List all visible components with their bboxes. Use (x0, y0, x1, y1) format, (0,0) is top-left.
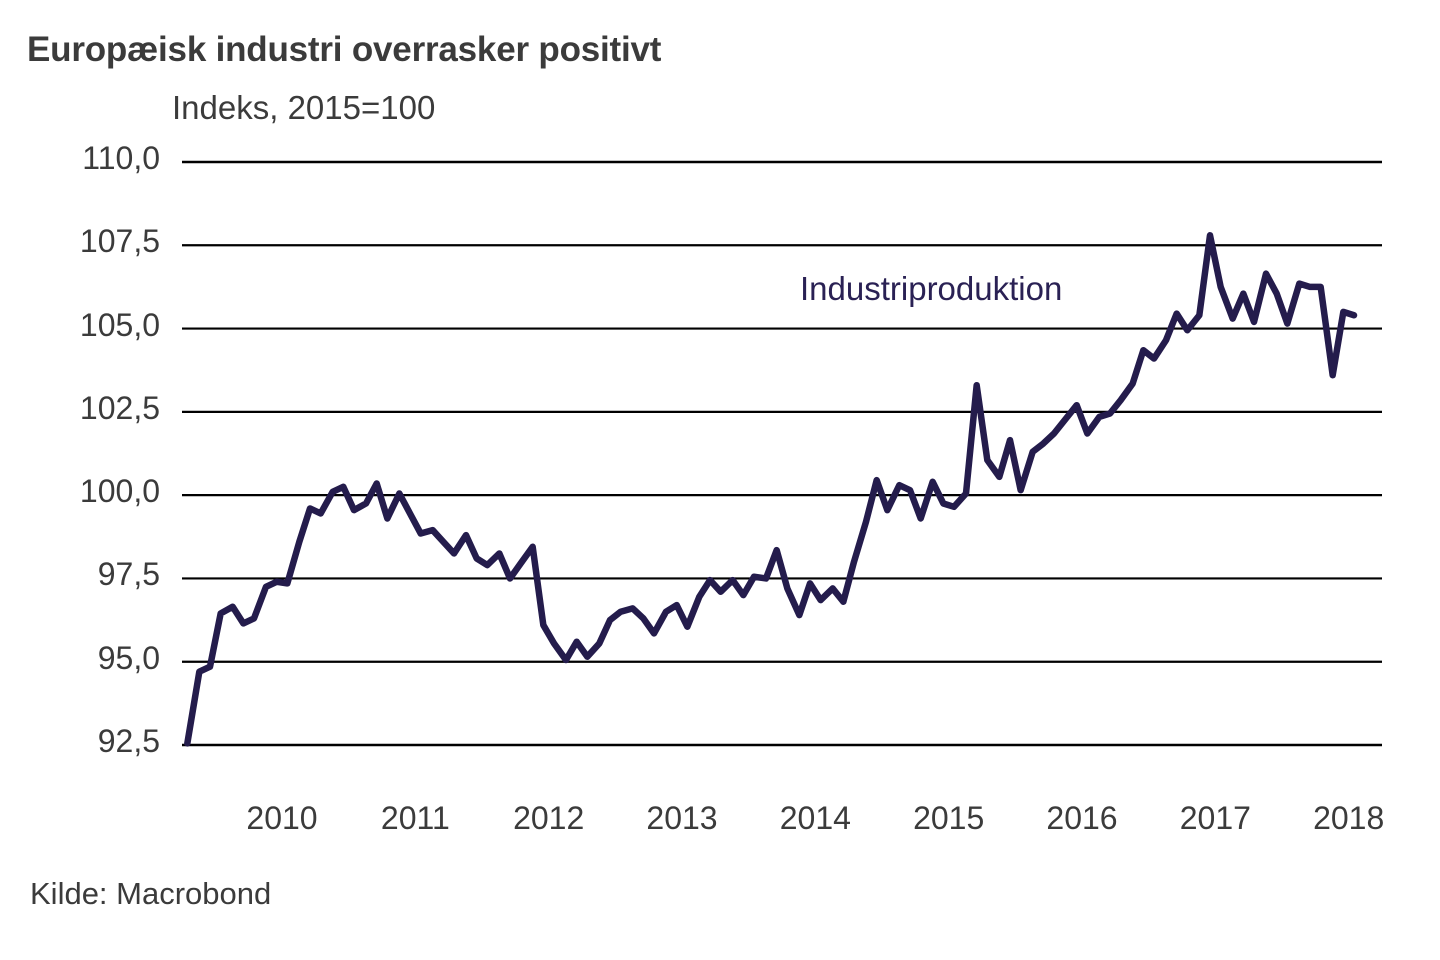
x-tick-label: 2017 (1180, 800, 1251, 837)
x-axis-tick-labels: 201020112012201320142015201620172018 (0, 0, 1440, 960)
x-tick-label: 2013 (646, 800, 717, 837)
source-note: Kilde: Macrobond (30, 876, 271, 912)
x-tick-label: 2015 (913, 800, 984, 837)
x-tick-label: 2018 (1313, 800, 1384, 837)
x-tick-label: 2011 (381, 800, 450, 837)
x-tick-label: 2012 (513, 800, 584, 837)
x-tick-label: 2016 (1046, 800, 1117, 837)
series-label-industriproduktion: Industriproduktion (800, 270, 1062, 308)
x-tick-label: 2014 (780, 800, 851, 837)
chart-page: Europæisk industri overrasker positivt I… (0, 0, 1440, 960)
x-tick-label: 2010 (246, 800, 317, 837)
